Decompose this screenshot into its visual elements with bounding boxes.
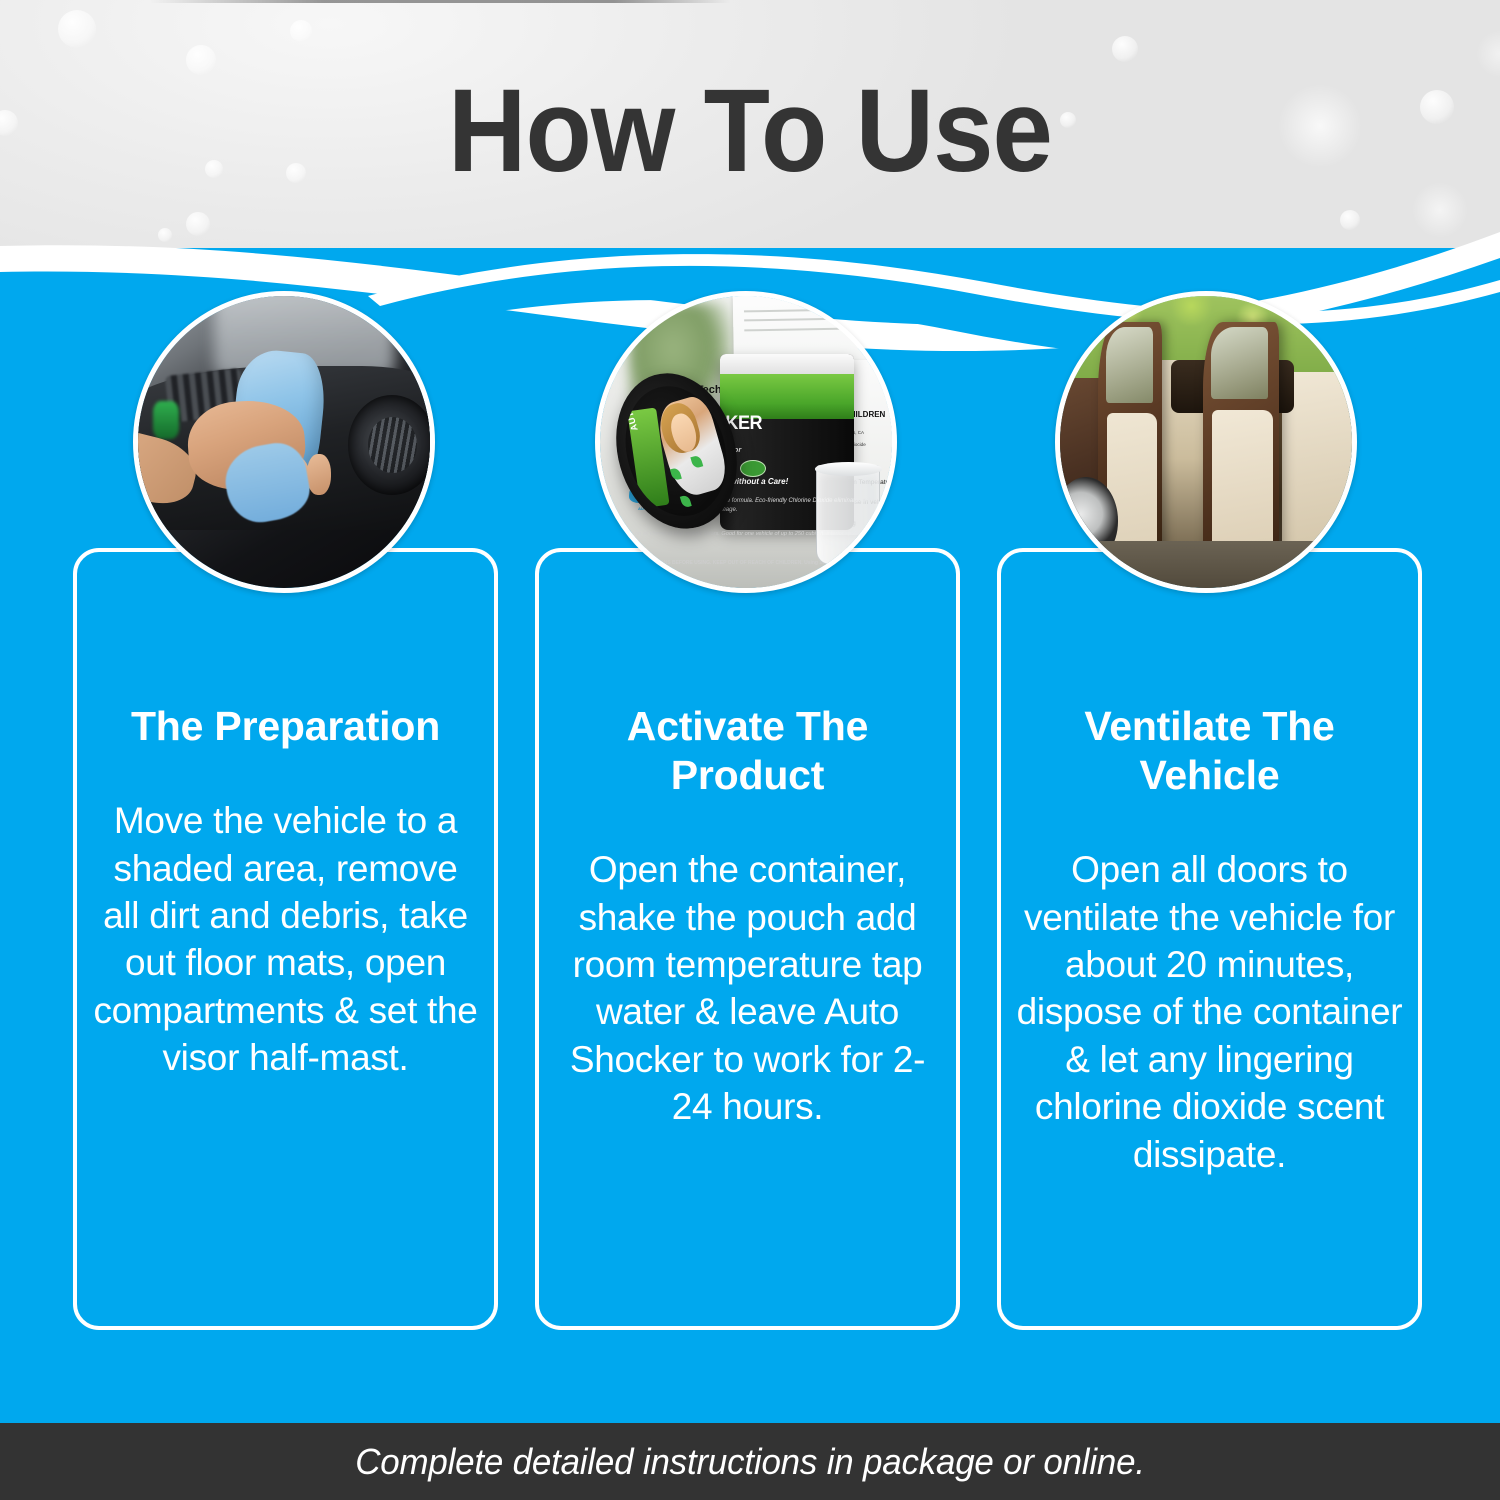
steps-container: The Preparation Move the vehicle to a sh…: [0, 0, 1500, 1500]
step-text: Open all doors to ventilate the vehicle …: [1015, 846, 1404, 1178]
footer-text: Complete detailed instructions in packag…: [355, 1441, 1145, 1483]
measuring-cup: [816, 465, 880, 564]
footer-bar: Complete detailed instructions in packag…: [0, 1423, 1500, 1500]
card-body: Ventilate The Vehicle Open all doors to …: [1001, 702, 1418, 1178]
step-title: Activate The Product: [553, 702, 942, 800]
auto-shocker-container-photo: CLO2-DMG Techn Patent Pending Chlorine d…: [595, 291, 897, 593]
open-car-doors-photo: [1055, 291, 1357, 593]
infographic-page: How To Use The Preparation Move the vehi…: [0, 0, 1500, 1500]
step-title: Ventilate The Vehicle: [1015, 702, 1404, 800]
step-card-preparation: The Preparation Move the vehicle to a sh…: [73, 548, 498, 1330]
scene-open-doors: [1060, 296, 1352, 588]
scene-dashboard-wipe: [138, 296, 430, 588]
scene-product-container: CLO2-DMG Techn Patent Pending Chlorine d…: [600, 296, 892, 588]
step-text: Move the vehicle to a shaded area, remov…: [91, 797, 480, 1081]
card-body: Activate The Product Open the container,…: [539, 702, 956, 1131]
leaf-icon: [679, 494, 692, 508]
card-body: The Preparation Move the vehicle to a sh…: [77, 702, 494, 1081]
step-card-ventilate: Ventilate The Vehicle Open all doors to …: [997, 548, 1422, 1330]
step-title: The Preparation: [91, 702, 480, 751]
dashboard-wipe-photo: [133, 291, 435, 593]
step-card-activate: Activate The Product Open the container,…: [535, 548, 960, 1330]
step-text: Open the container, shake the pouch add …: [553, 846, 942, 1130]
